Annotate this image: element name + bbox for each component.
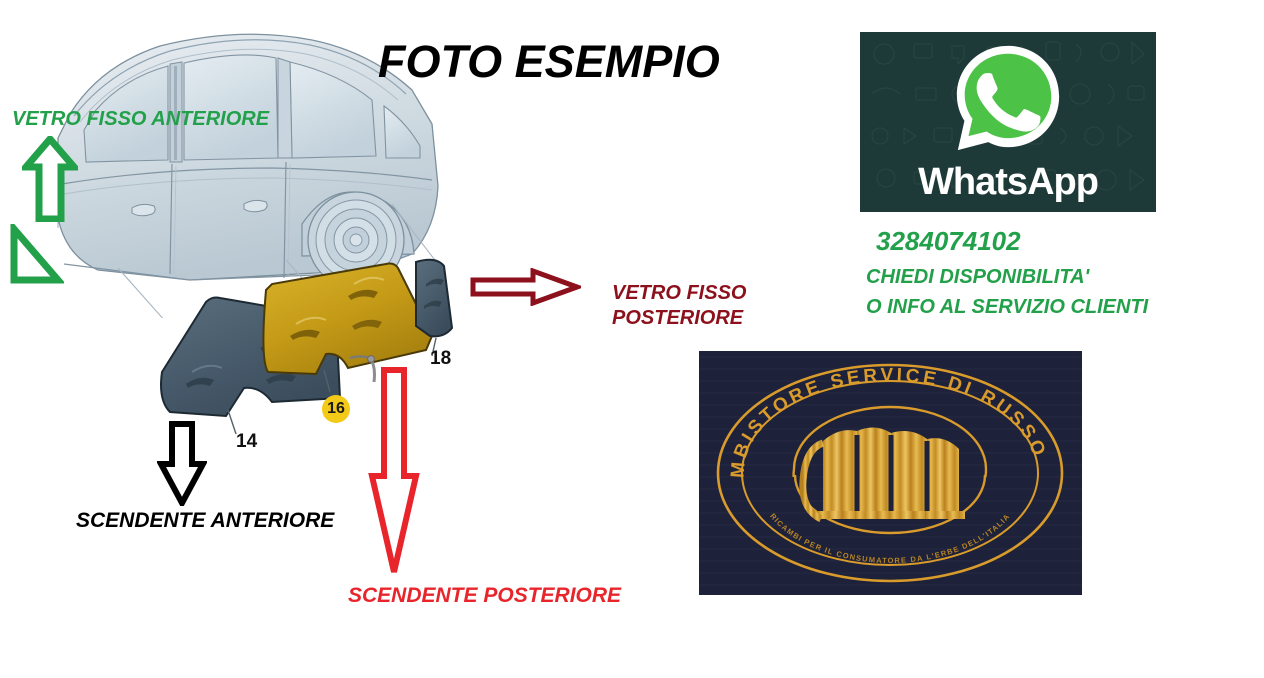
arrow-down-black-icon [157, 420, 207, 511]
label-vetro-fisso-posteriore-line1: VETRO FISSO [612, 281, 746, 306]
label-vetro-fisso-anteriore: VETRO FISSO ANTERIORE [12, 108, 269, 130]
whatsapp-banner: WhatsApp [860, 32, 1156, 212]
whatsapp-phone-number[interactable]: 3284074102 [876, 226, 1021, 257]
triangle-green-icon [8, 224, 64, 291]
label-scendente-posteriore: SCENDENTE POSTERIORE [348, 584, 621, 608]
arrow-right-maroon-icon [469, 268, 581, 311]
arrow-down-red-icon [366, 366, 422, 581]
arrow-up-green-icon [22, 136, 78, 227]
whatsapp-logo-icon [949, 40, 1067, 158]
cta-line-2: O INFO AL SERVIZIO CLIENTI [866, 296, 1148, 319]
part-number-18: 18 [430, 348, 451, 370]
part-number-16-badge: 16 [322, 395, 350, 423]
label-vetro-fisso-posteriore: VETRO FISSO POSTERIORE [612, 281, 746, 331]
poster-canvas: 14 16 17 18 FOTO ESEMPIO VETRO FISSO ANT… [0, 0, 1264, 678]
label-scendente-anteriore: SCENDENTE ANTERIORE [76, 509, 334, 533]
cta-line-1: CHIEDI DISPONIBILITA' [866, 266, 1089, 289]
label-vetro-fisso-posteriore-line2: POSTERIORE [612, 306, 746, 331]
page-title: FOTO ESEMPIO [378, 36, 720, 88]
whatsapp-wordmark: WhatsApp [860, 161, 1156, 204]
part-number-14: 14 [236, 431, 257, 453]
shop-logo: MRICAMBISTORE SERVICE DI RUSSO MARCO [699, 351, 1082, 595]
